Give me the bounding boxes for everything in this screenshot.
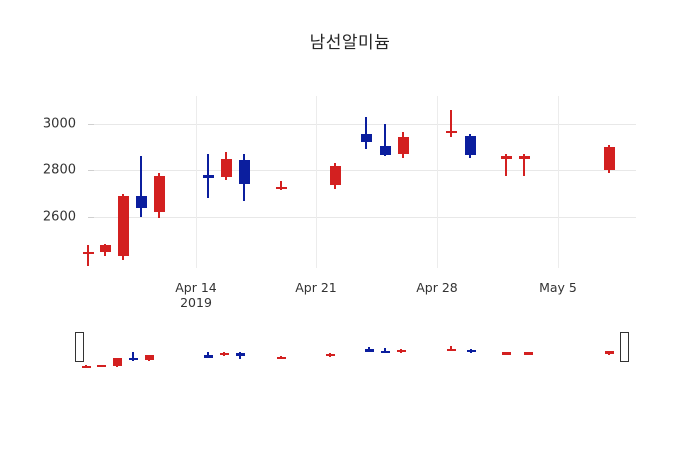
candlestick-body: [276, 187, 287, 190]
candlestick[interactable]: [604, 96, 615, 268]
x-axis-tick-label: Apr 21: [295, 280, 337, 295]
candlestick[interactable]: [204, 330, 213, 378]
candlestick-body: [236, 353, 245, 356]
x-gridline: [437, 96, 438, 268]
candlestick-body: [502, 352, 511, 355]
candlestick[interactable]: [326, 330, 335, 378]
candlestick-body: [501, 156, 512, 159]
candlestick[interactable]: [118, 96, 129, 268]
candlestick-body: [447, 349, 456, 352]
candlestick[interactable]: [501, 96, 512, 268]
page-title: 남선알미늄: [0, 28, 700, 53]
candlestick-wick: [365, 117, 367, 150]
candlestick-body: [277, 357, 286, 360]
x-gridline: [316, 96, 317, 268]
candlestick-body: [380, 146, 391, 155]
y-axis-tick-label: 2800: [43, 163, 76, 178]
candlestick-body: [203, 175, 214, 178]
candlestick[interactable]: [100, 96, 111, 268]
candlestick-body: [145, 355, 154, 360]
candlestick-body: [326, 354, 335, 357]
candlestick-body: [446, 131, 457, 134]
y-axis-tick-label: 2600: [43, 209, 76, 224]
candlestick-body: [604, 147, 615, 170]
candlestick[interactable]: [83, 96, 94, 268]
y-axis-labels: 300028002600: [0, 96, 82, 268]
candlestick-body: [397, 350, 406, 353]
candlestick-body: [465, 136, 476, 156]
candlestick[interactable]: [276, 96, 287, 268]
candlestick-body: [330, 166, 341, 186]
candlestick[interactable]: [97, 330, 106, 378]
candlestick-body: [83, 252, 94, 255]
range-handle-left[interactable]: [75, 332, 84, 362]
candlestick-body: [398, 137, 409, 154]
candlestick[interactable]: [365, 330, 374, 378]
x-axis-year-label: 2019: [175, 295, 217, 310]
candlestick[interactable]: [380, 96, 391, 268]
x-axis-tick-label: Apr 28: [416, 280, 458, 295]
x-axis-tick-label: Apr 14: [175, 280, 217, 295]
candlestick[interactable]: [519, 96, 530, 268]
y-axis-tick-label: 3000: [43, 116, 76, 131]
candlestick[interactable]: [330, 96, 341, 268]
x-gridline: [558, 96, 559, 268]
candlestick-body: [381, 351, 390, 354]
candlestick-body: [118, 196, 129, 256]
range-navigator[interactable]: [88, 330, 636, 378]
candlestick-wick: [87, 245, 89, 266]
candlestick[interactable]: [113, 330, 122, 378]
candlestick-body: [519, 156, 530, 159]
candlestick-body: [82, 366, 91, 369]
candlestick[interactable]: [154, 96, 165, 268]
range-handle-right[interactable]: [620, 332, 629, 362]
candlestick-body: [100, 245, 111, 252]
candlestick-body: [204, 355, 213, 358]
x-axis-tick-group: Apr 21: [295, 280, 337, 295]
candlestick[interactable]: [136, 96, 147, 268]
candlestick[interactable]: [447, 330, 456, 378]
x-axis-tick-group: May 5: [539, 280, 577, 295]
candlestick-body: [136, 196, 147, 208]
candlestick-body: [524, 352, 533, 355]
candlestick[interactable]: [605, 330, 614, 378]
candlestick[interactable]: [467, 330, 476, 378]
candlestick-body: [221, 159, 232, 178]
candlestick[interactable]: [524, 330, 533, 378]
candlestick[interactable]: [381, 330, 390, 378]
candlestick[interactable]: [398, 96, 409, 268]
candlestick-wick: [140, 156, 142, 216]
x-axis-tick-group: Apr 28: [416, 280, 458, 295]
chart-root: 남선알미늄 300028002600 Apr 142019Apr 21Apr 2…: [0, 0, 700, 450]
candlestick[interactable]: [465, 96, 476, 268]
candlestick[interactable]: [129, 330, 138, 378]
candlestick[interactable]: [502, 330, 511, 378]
x-axis-tick-group: Apr 142019: [175, 280, 217, 310]
candlestick[interactable]: [361, 96, 372, 268]
x-axis-labels: Apr 142019Apr 21Apr 28May 5: [88, 276, 636, 310]
candlestick-body: [365, 349, 374, 352]
candlestick-body: [154, 176, 165, 212]
candlestick-body: [220, 353, 229, 356]
candlestick-body: [97, 365, 106, 368]
candlestick-body: [113, 358, 122, 366]
candlestick[interactable]: [397, 330, 406, 378]
candlestick-body: [467, 350, 476, 353]
candlestick[interactable]: [203, 96, 214, 268]
candlestick-body: [361, 134, 372, 142]
x-axis-tick-label: May 5: [539, 280, 577, 295]
candlestick[interactable]: [446, 96, 457, 268]
x-gridline: [196, 96, 197, 268]
candlestick[interactable]: [221, 96, 232, 268]
candlestick[interactable]: [277, 330, 286, 378]
candlestick[interactable]: [236, 330, 245, 378]
price-plot-area: [88, 96, 636, 268]
candlestick-body: [129, 358, 138, 361]
candlestick[interactable]: [145, 330, 154, 378]
candlestick-body: [605, 351, 614, 354]
candlestick[interactable]: [239, 96, 250, 268]
candlestick-body: [239, 160, 250, 184]
candlestick[interactable]: [220, 330, 229, 378]
